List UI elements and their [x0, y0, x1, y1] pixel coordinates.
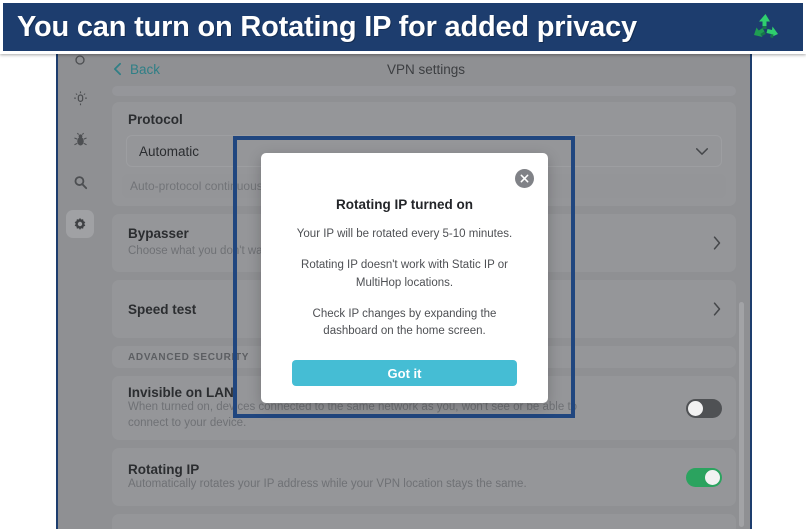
pane-header: Back VPN settings — [102, 52, 750, 86]
gear-icon — [72, 216, 88, 232]
toggle-rotating-ip[interactable] — [686, 468, 722, 487]
sidebar-item-threat-protection[interactable] — [66, 126, 94, 154]
back-label: Back — [130, 62, 160, 77]
sidebar-item-search[interactable] — [66, 168, 94, 196]
chevron-right-icon — [712, 301, 722, 317]
row-rotating-ip: Rotating IP Automatically rotates your I… — [112, 448, 736, 506]
sidebar-rail — [58, 52, 102, 529]
protocol-selected-value: Automatic — [139, 144, 199, 159]
modal-close-button[interactable] — [515, 169, 534, 188]
modal-paragraph-1: Your IP will be rotated every 5-10 minut… — [283, 226, 526, 243]
page-title: VPN settings — [102, 62, 750, 77]
banner-title: You can turn on Rotating IP for added pr… — [17, 11, 637, 44]
modal-paragraph-2: Rotating IP doesn't work with Static IP … — [283, 257, 526, 292]
toggle-knob — [705, 470, 720, 485]
sidebar-item-alert[interactable] — [66, 84, 94, 112]
toggle-invisible-on-lan[interactable] — [686, 399, 722, 418]
annotation-banner: You can turn on Rotating IP for added pr… — [0, 0, 806, 54]
alert-bulb-icon — [72, 90, 89, 107]
chevron-left-icon — [112, 62, 123, 76]
close-icon — [520, 174, 529, 183]
protocol-title: Protocol — [112, 110, 736, 135]
rotating-ip-modal: Rotating IP turned on Your IP will be ro… — [261, 153, 548, 403]
bug-icon — [72, 132, 89, 149]
section-label-text: ADVANCED SECURITY — [128, 352, 249, 363]
chevron-right-icon — [712, 235, 722, 251]
sidebar-item-settings[interactable] — [66, 210, 94, 238]
rotating-ip-desc: Automatically rotates your IP address wh… — [128, 477, 527, 493]
modal-paragraph-3: Check IP changes by expanding the dashbo… — [283, 306, 526, 341]
search-icon — [72, 174, 89, 191]
got-it-button[interactable]: Got it — [292, 360, 517, 386]
partial-icon — [72, 54, 88, 68]
sidebar-item-partial[interactable] — [66, 54, 94, 68]
screenshot-root: You can turn on Rotating IP for added pr… — [0, 0, 806, 529]
recycle-icon — [749, 11, 783, 43]
back-button[interactable]: Back — [112, 62, 160, 77]
speed-test-title: Speed test — [128, 302, 196, 317]
chevron-down-icon — [695, 147, 709, 156]
toggle-knob — [688, 401, 703, 416]
top-filler-strip — [112, 86, 736, 96]
rotating-ip-title: Rotating IP — [128, 462, 527, 477]
row-noborders: NoBorders This feature supports internet… — [112, 514, 736, 529]
modal-title: Rotating IP turned on — [283, 197, 526, 212]
vertical-scrollbar[interactable] — [739, 302, 744, 527]
